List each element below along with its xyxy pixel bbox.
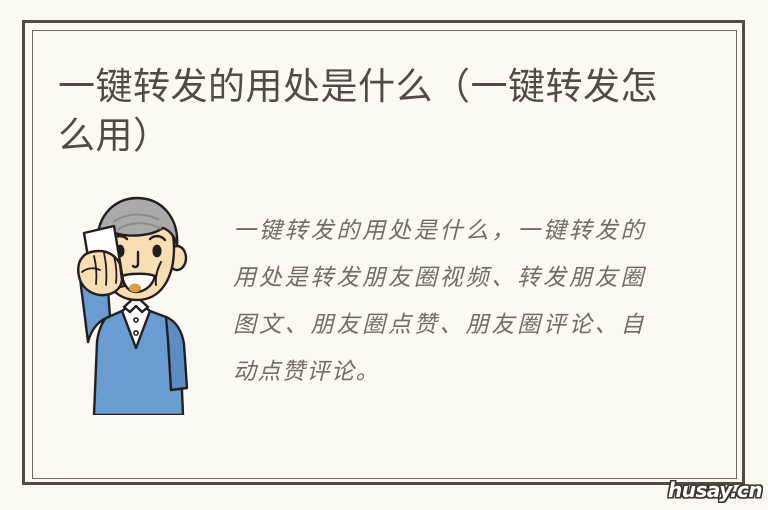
article-body-text: 一键转发的用处是什么，一键转发的用处是转发朋友圈视频、转发朋友圈图文、朋友圈点赞… (233, 208, 645, 396)
elderly-man-on-phone-icon (58, 190, 218, 415)
shirt-button-bottom (134, 331, 138, 335)
article-content-row: 一键转发的用处是什么，一键转发的用处是转发朋友圈视频、转发朋友圈图文、朋友圈点赞… (0, 190, 768, 420)
site-watermark: husay.cn (668, 478, 762, 502)
page-root: 一键转发的用处是什么（一键转发怎么用） (0, 0, 768, 510)
eye-right (152, 245, 161, 258)
article-title: 一键转发的用处是什么（一键转发怎么用） (58, 62, 668, 160)
elderly-man-on-phone-illustration (58, 190, 218, 415)
hand (78, 251, 122, 295)
sweater-sleeve-right (166, 317, 187, 390)
shirt-button-top (134, 318, 138, 322)
tongue (129, 284, 141, 293)
